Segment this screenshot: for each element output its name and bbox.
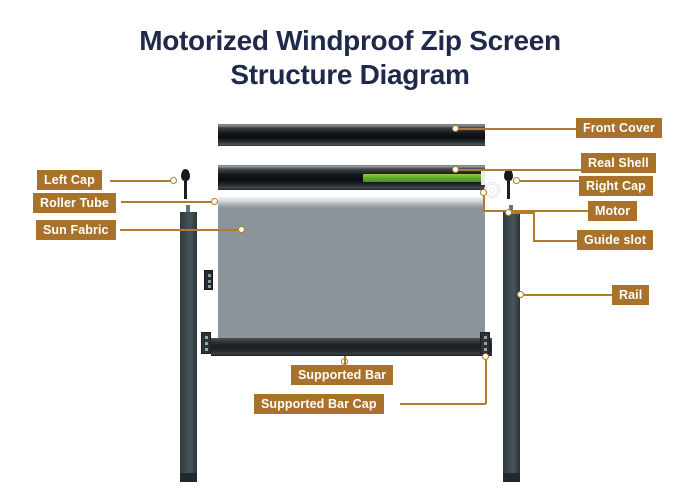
label-front-cover: Front Cover: [576, 118, 662, 138]
leader-guide-slot-vert: [533, 212, 535, 241]
right-cap-stem: [507, 179, 510, 199]
label-supported-bar-cap: Supported Bar Cap: [254, 394, 384, 414]
leader-supported-bar-cap-horz: [400, 403, 486, 405]
leader-dot-supported-bar-cap: [482, 353, 489, 360]
title-line-2: Structure Diagram: [0, 58, 700, 92]
leader-roller-tube: [121, 201, 213, 203]
leader-dot-sun-fabric: [238, 226, 245, 233]
leader-dot-front-cover: [452, 125, 459, 132]
left-cap-part: [181, 169, 190, 199]
leader-front-cover: [459, 128, 576, 130]
label-rail: Rail: [612, 285, 649, 305]
leader-dot-roller-tube: [211, 198, 218, 205]
leader-dot-right-cap: [513, 177, 520, 184]
label-sun-fabric: Sun Fabric: [36, 220, 116, 240]
leader-supported-bar-cap-vert: [485, 360, 487, 404]
supported-bar-cap-right: [480, 332, 490, 354]
leader-rail: [524, 294, 612, 296]
left-cap-stem: [184, 179, 187, 199]
leader-motor-horz: [483, 210, 588, 212]
label-roller-tube: Roller Tube: [33, 193, 116, 213]
label-motor: Motor: [588, 201, 637, 221]
supported-bar-cap-left: [201, 332, 211, 354]
label-supported-bar: Supported Bar: [291, 365, 393, 385]
leader-sun-fabric-h1: [120, 229, 245, 231]
right-rail-part: [503, 212, 520, 482]
leader-real-shell: [459, 169, 581, 171]
right-cap-part: [504, 169, 513, 199]
leader-guide-slot-h1: [512, 212, 534, 214]
supported-bar-part: [211, 338, 492, 356]
leader-dot-motor: [480, 189, 487, 196]
label-right-cap: Right Cap: [579, 176, 653, 196]
left-rail-foot: [180, 473, 197, 482]
label-guide-slot: Guide slot: [577, 230, 653, 250]
leader-dot-guide-slot: [505, 209, 512, 216]
sun-fabric-part: [218, 208, 485, 340]
leader-dot-left-cap: [170, 177, 177, 184]
front-cover-part: [218, 124, 485, 146]
right-rail-foot: [503, 473, 520, 482]
left-rail-part: [180, 212, 197, 482]
label-left-cap: Left Cap: [37, 170, 102, 190]
diagram-canvas: Motorized Windproof Zip Screen Structure…: [0, 0, 700, 493]
leader-left-cap: [110, 180, 172, 182]
leader-motor-vert: [483, 196, 485, 211]
motor-rod-part: [363, 174, 485, 182]
leader-guide-slot-h2: [533, 240, 577, 242]
roller-tube-part: [218, 197, 485, 208]
leader-dot-rail: [517, 291, 524, 298]
leader-right-cap: [520, 180, 579, 182]
label-real-shell: Real Shell: [581, 153, 656, 173]
leader-dot-real-shell: [452, 166, 459, 173]
title-line-1: Motorized Windproof Zip Screen: [139, 25, 561, 56]
page-title: Motorized Windproof Zip Screen Structure…: [0, 24, 700, 92]
motor-rod-tip: [481, 171, 485, 185]
guide-slot-marker: [204, 270, 213, 290]
